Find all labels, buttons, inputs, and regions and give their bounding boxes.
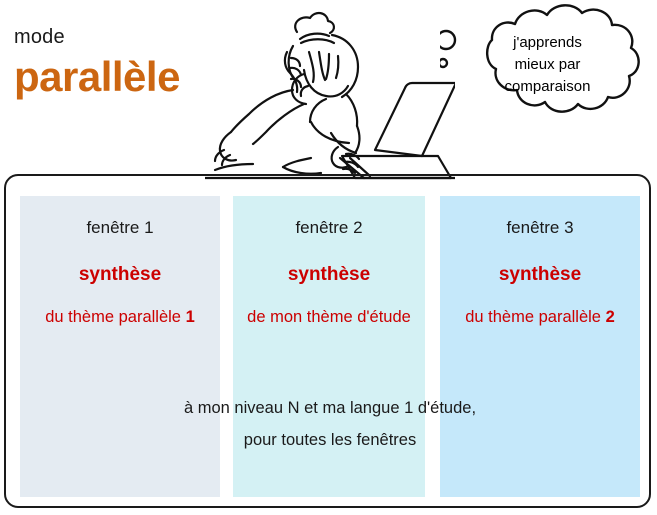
mode-label: mode: [14, 26, 234, 48]
bubble-line-2: mieux par: [455, 54, 640, 76]
header-title-block: mode parallèle: [14, 26, 234, 99]
bubble-line-3: comparaison: [455, 76, 640, 98]
thought-bubble-text: j'apprends mieux par comparaison: [455, 32, 640, 97]
bubble-line-1: j'apprends: [455, 32, 640, 54]
diagram-canvas: mode parallèle: [0, 0, 657, 515]
panel-border: [4, 174, 651, 508]
person-at-laptop-illustration: [205, 2, 455, 182]
mode-word: parallèle: [14, 54, 234, 99]
